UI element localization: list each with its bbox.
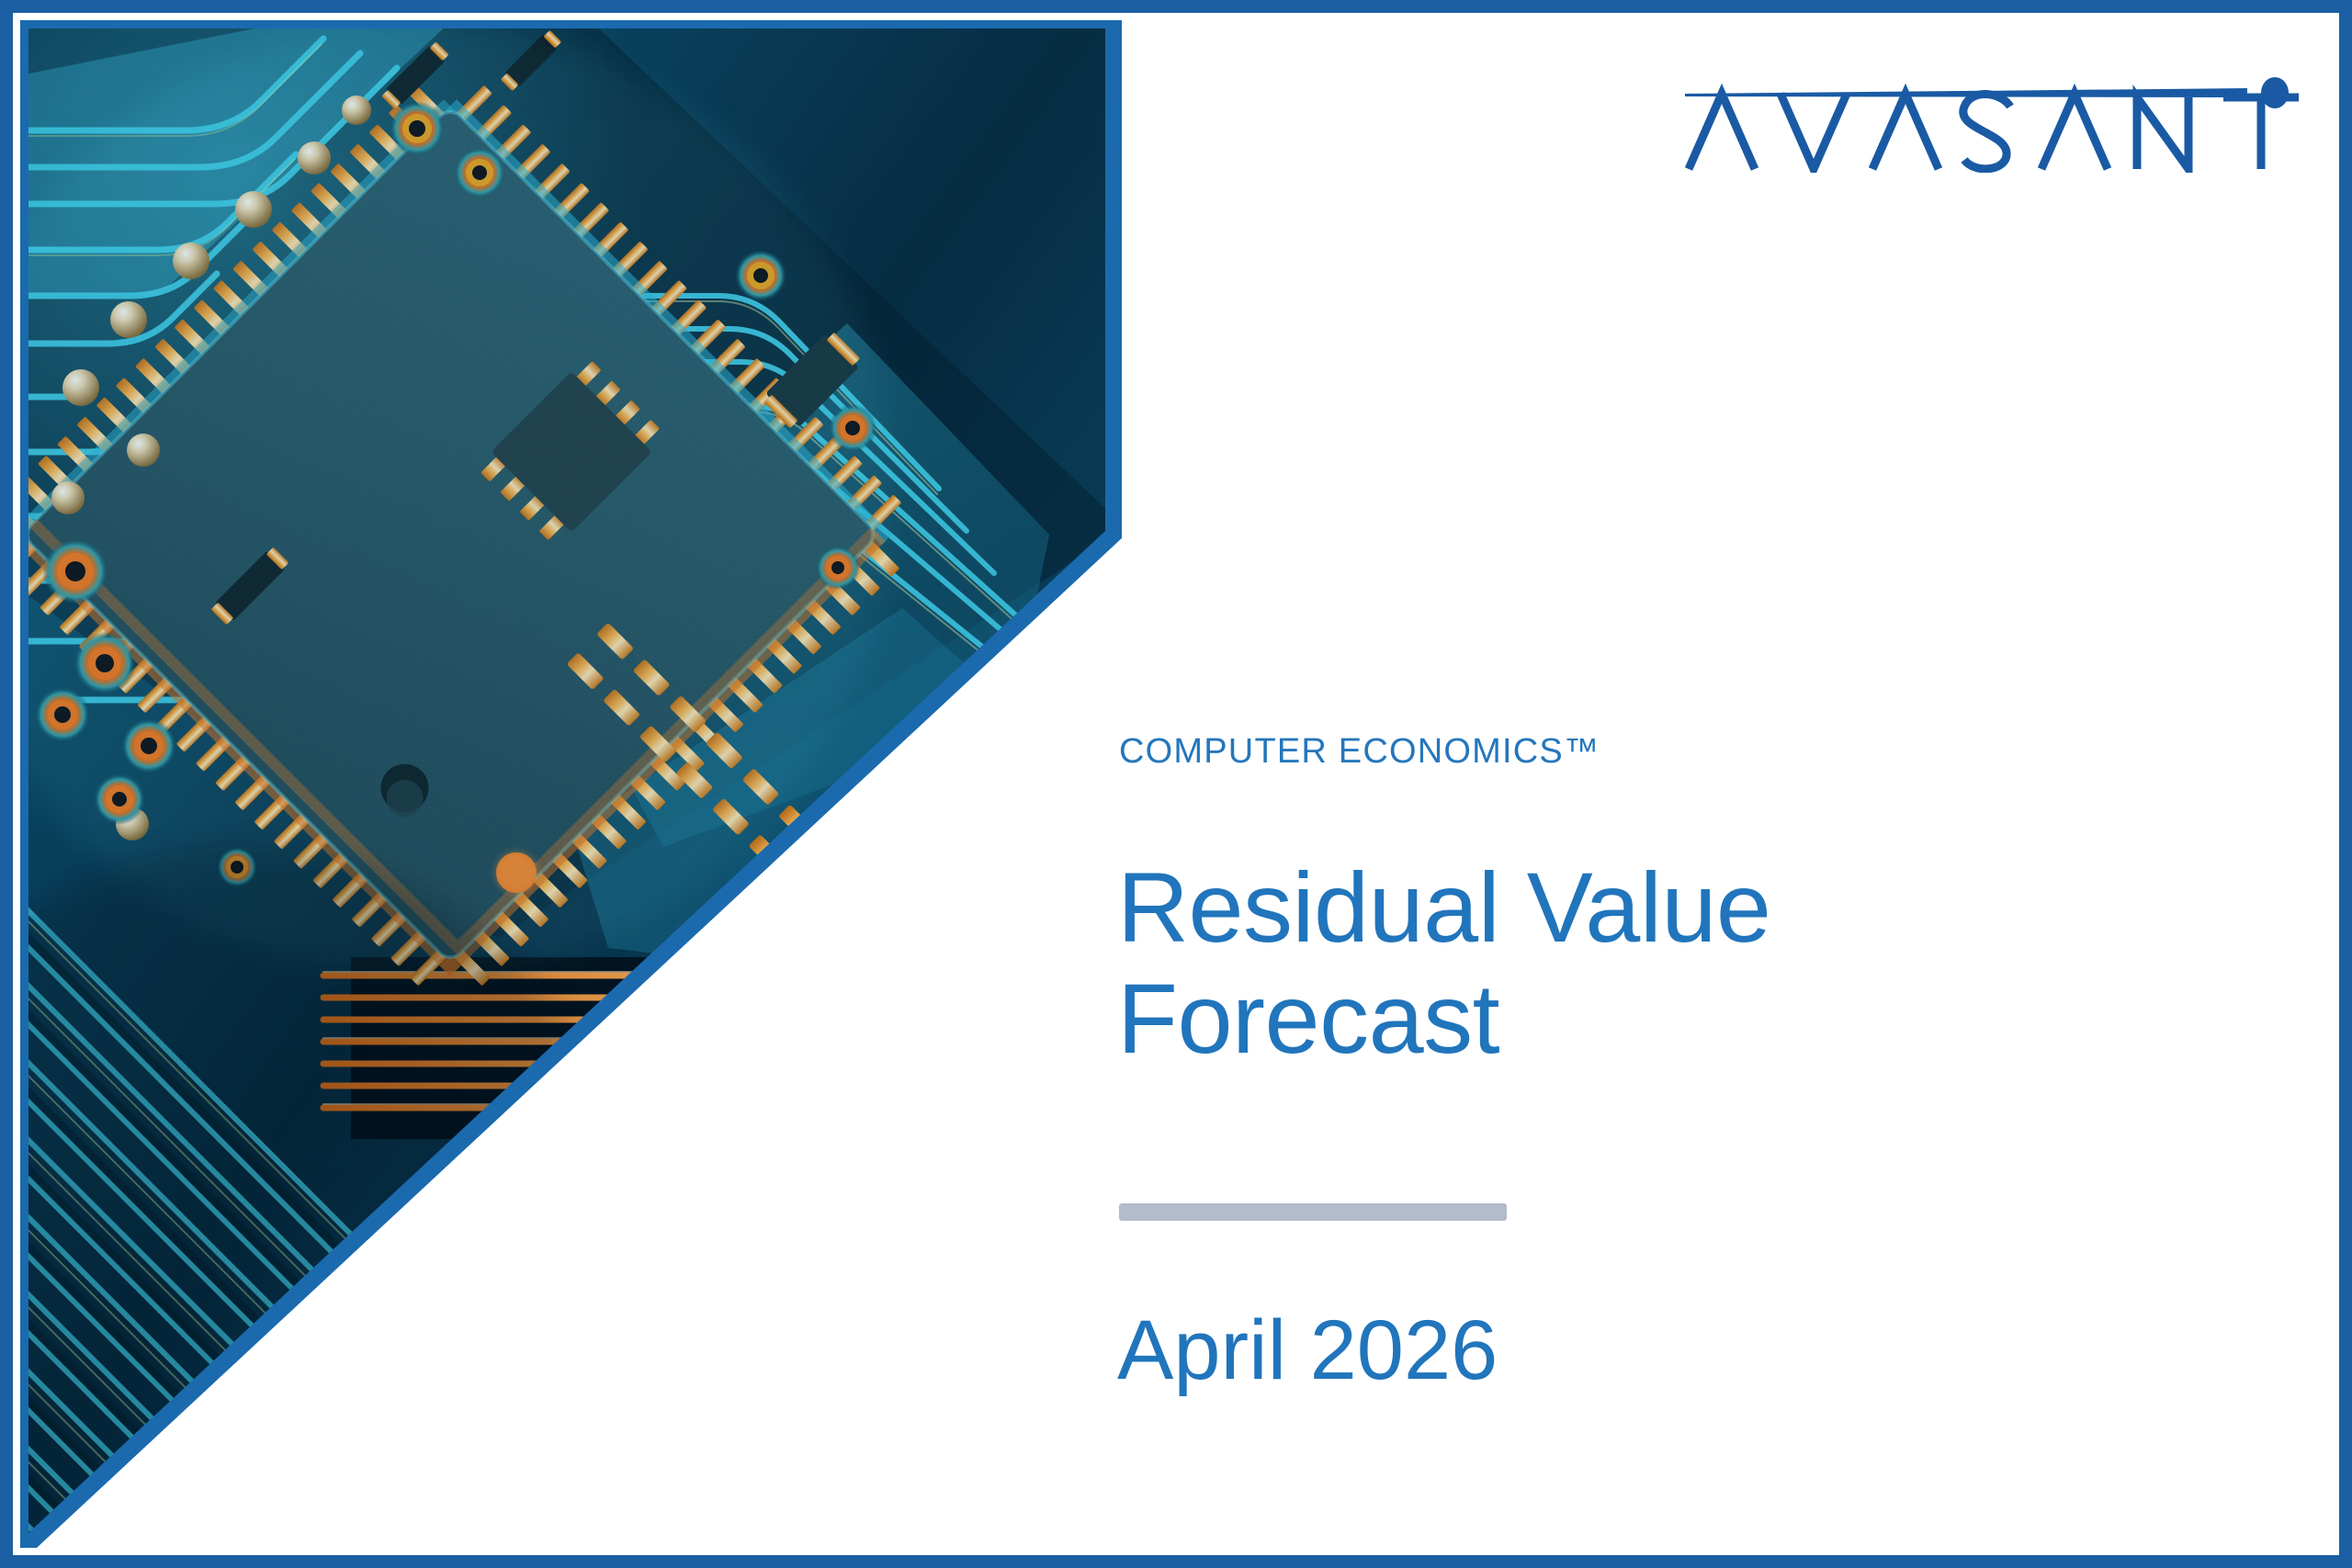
page-title-line-1: Residual Value — [1117, 852, 2091, 964]
slide-root: COMPUTER ECONOMICS™ Residual Value Forec… — [0, 0, 2352, 1568]
avasant-wordmark — [1689, 94, 2299, 169]
publication-date: April 2026 — [1117, 1303, 1498, 1399]
frame-left-border — [0, 0, 13, 1568]
avasant-logo-svg — [1678, 53, 2321, 173]
frame-right-border — [2339, 0, 2352, 1568]
page-title: Residual Value Forecast — [1117, 852, 2091, 1075]
circuit-board-image — [20, 20, 1132, 1548]
brand-eyebrow: COMPUTER ECONOMICS™ — [1119, 732, 1600, 772]
logo-rule-icon — [1685, 88, 2247, 97]
frame-bottom-border — [0, 1555, 2352, 1568]
circuit-board-artwork — [20, 20, 1132, 1548]
avasant-logo — [1678, 53, 2321, 173]
title-divider — [1119, 1203, 1507, 1221]
page-title-line-2: Forecast — [1117, 964, 2091, 1075]
content-column: COMPUTER ECONOMICS™ Residual Value Forec… — [1117, 0, 2339, 1568]
frame-top-border — [0, 0, 2352, 13]
